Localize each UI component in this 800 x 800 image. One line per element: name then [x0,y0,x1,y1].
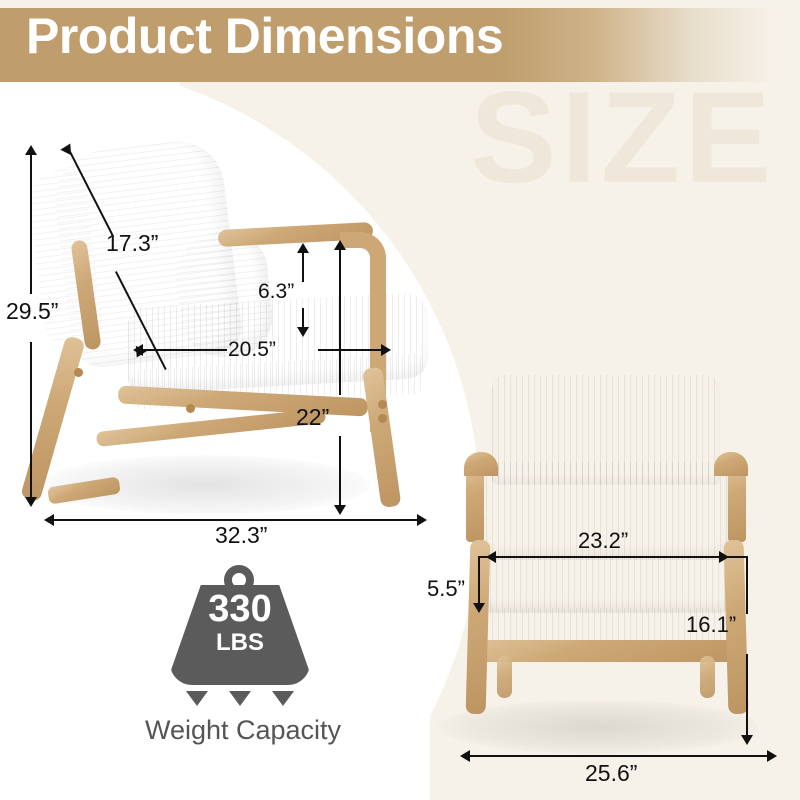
weight-unit: LBS [170,631,310,655]
weight-capacity-caption: Weight Capacity [110,717,376,744]
dimension-label-arm-height: 22” [296,406,329,429]
weight-amount: 330 [170,590,310,628]
dimension-label-backrest-depth: 17.3” [106,232,158,255]
side-dowel-peg [74,368,83,377]
dimension-label-overall-depth: 32.3” [215,524,267,547]
dimension-label-overall-height: 29.5” [6,300,58,323]
dimension-label-arm-clearance: 6.3” [258,281,294,302]
weight-down-arrow-icon [229,691,251,706]
front-right-arm-curve [714,452,748,476]
dimension-label-cushion-thickness: 5.5” [427,578,465,600]
side-dowel-peg [186,404,195,413]
dimension-label-seat-depth: 20.5” [228,339,276,360]
front-chair-floor-shadow [438,700,758,754]
dimension-label-seat-height: 16.1” [686,614,736,636]
size-watermark: SIZE [470,72,775,202]
front-rear-left-leg [497,656,512,698]
product-dimensions-infographic: SIZE Product Dimensions [0,0,800,800]
weight-down-arrow-icon [186,691,208,706]
side-dowel-peg [378,400,387,409]
dimension-label-inner-seat-width: 23.2” [578,530,628,552]
page-title: Product Dimensions [26,11,503,61]
weight-capacity-block: 330 LBS Weight Capacity [148,565,338,745]
weight-down-arrow-icon [272,691,294,706]
front-rear-right-leg [700,656,715,698]
front-left-arm-curve [464,452,498,476]
dimension-label-overall-width: 25.6” [585,762,637,785]
side-dowel-peg [378,414,387,423]
front-seat-cushion [478,555,734,613]
